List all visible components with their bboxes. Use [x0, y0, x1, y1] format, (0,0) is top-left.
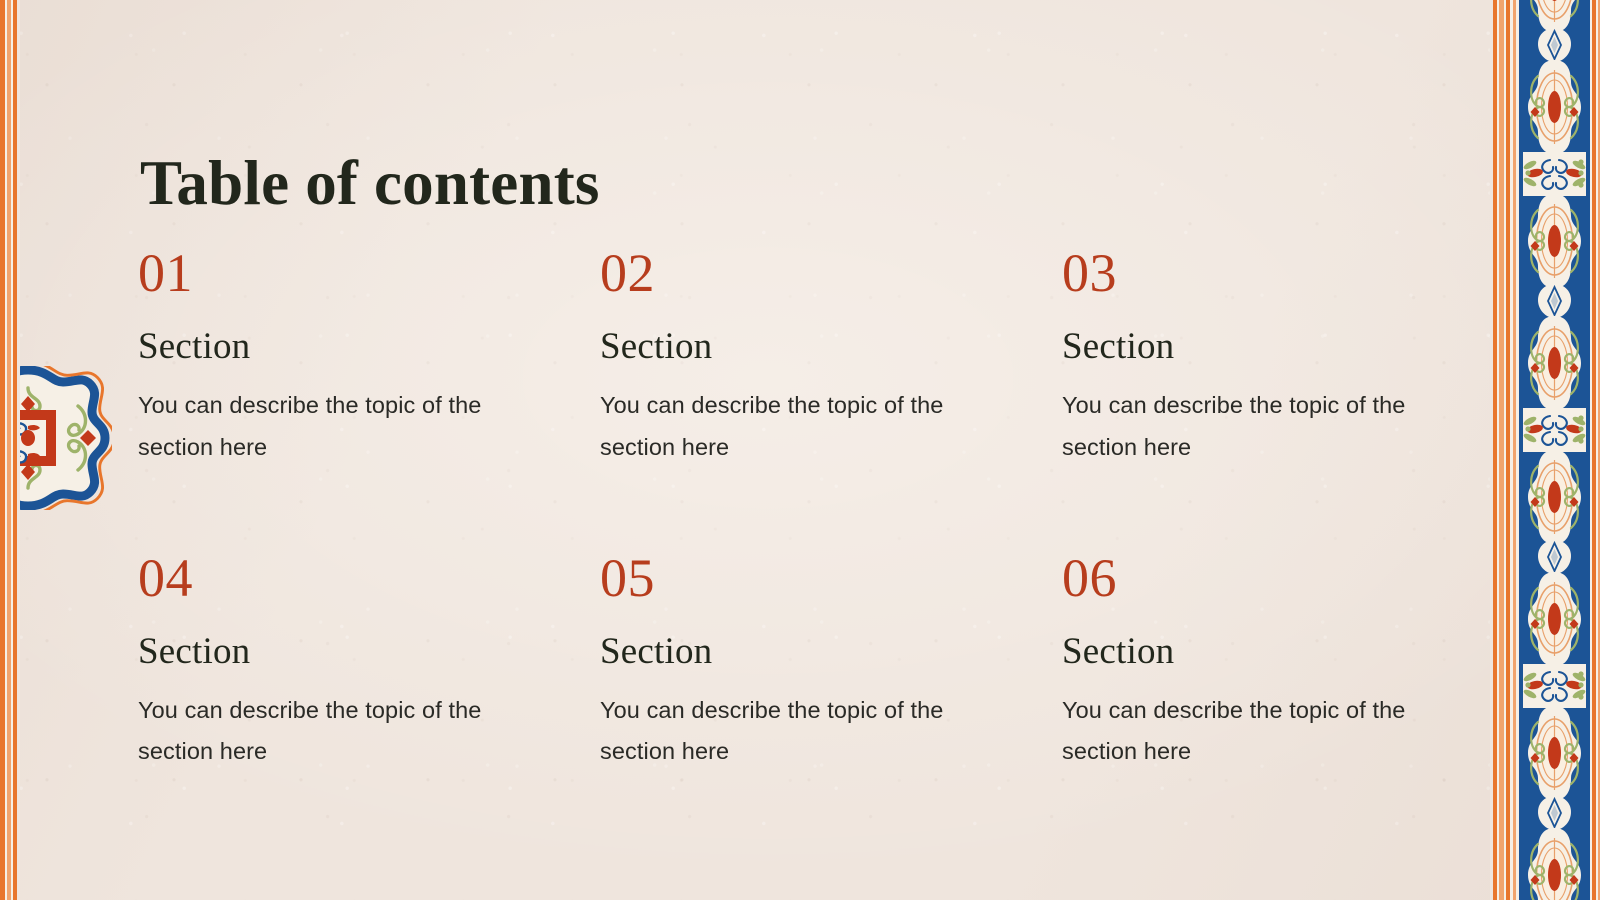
- right-border-outer-stripe: [1590, 0, 1600, 900]
- toc-item-01[interactable]: 01 Section You can describe the topic of…: [138, 246, 600, 469]
- table-of-contents-grid: 01 Section You can describe the topic of…: [138, 246, 1438, 773]
- toc-item-06[interactable]: 06 Section You can describe the topic of…: [1062, 551, 1438, 774]
- toc-description: You can describe the topic of the sectio…: [138, 690, 508, 774]
- toc-number: 06: [1062, 551, 1438, 605]
- toc-description: You can describe the topic of the sectio…: [600, 385, 970, 469]
- right-ornamental-border: [1490, 0, 1600, 900]
- toc-heading: Section: [600, 633, 1062, 670]
- toc-item-05[interactable]: 05 Section You can describe the topic of…: [600, 551, 1062, 774]
- toc-number: 03: [1062, 246, 1438, 300]
- left-stripe-band: [0, 0, 20, 900]
- slide-canvas: Table of contents 01 Section You can des…: [0, 0, 1600, 900]
- toc-heading: Section: [600, 328, 1062, 365]
- right-border-stripe-band: [1490, 0, 1519, 900]
- toc-number: 05: [600, 551, 1062, 605]
- page-title: Table of contents: [140, 150, 600, 216]
- toc-description: You can describe the topic of the sectio…: [1062, 385, 1432, 469]
- toc-heading: Section: [138, 328, 600, 365]
- toc-item-04[interactable]: 04 Section You can describe the topic of…: [138, 551, 600, 774]
- slide-content: Table of contents 01 Section You can des…: [0, 0, 1600, 900]
- toc-heading: Section: [1062, 633, 1438, 670]
- toc-item-03[interactable]: 03 Section You can describe the topic of…: [1062, 246, 1438, 469]
- toc-item-02[interactable]: 02 Section You can describe the topic of…: [600, 246, 1062, 469]
- toc-number: 02: [600, 246, 1062, 300]
- toc-number: 04: [138, 551, 600, 605]
- toc-description: You can describe the topic of the sectio…: [600, 690, 970, 774]
- toc-heading: Section: [1062, 328, 1438, 365]
- right-border-pattern-band: [1519, 0, 1590, 900]
- toc-number: 01: [138, 246, 600, 300]
- toc-description: You can describe the topic of the sectio…: [1062, 690, 1432, 774]
- toc-description: You can describe the topic of the sectio…: [138, 385, 508, 469]
- toc-heading: Section: [138, 633, 600, 670]
